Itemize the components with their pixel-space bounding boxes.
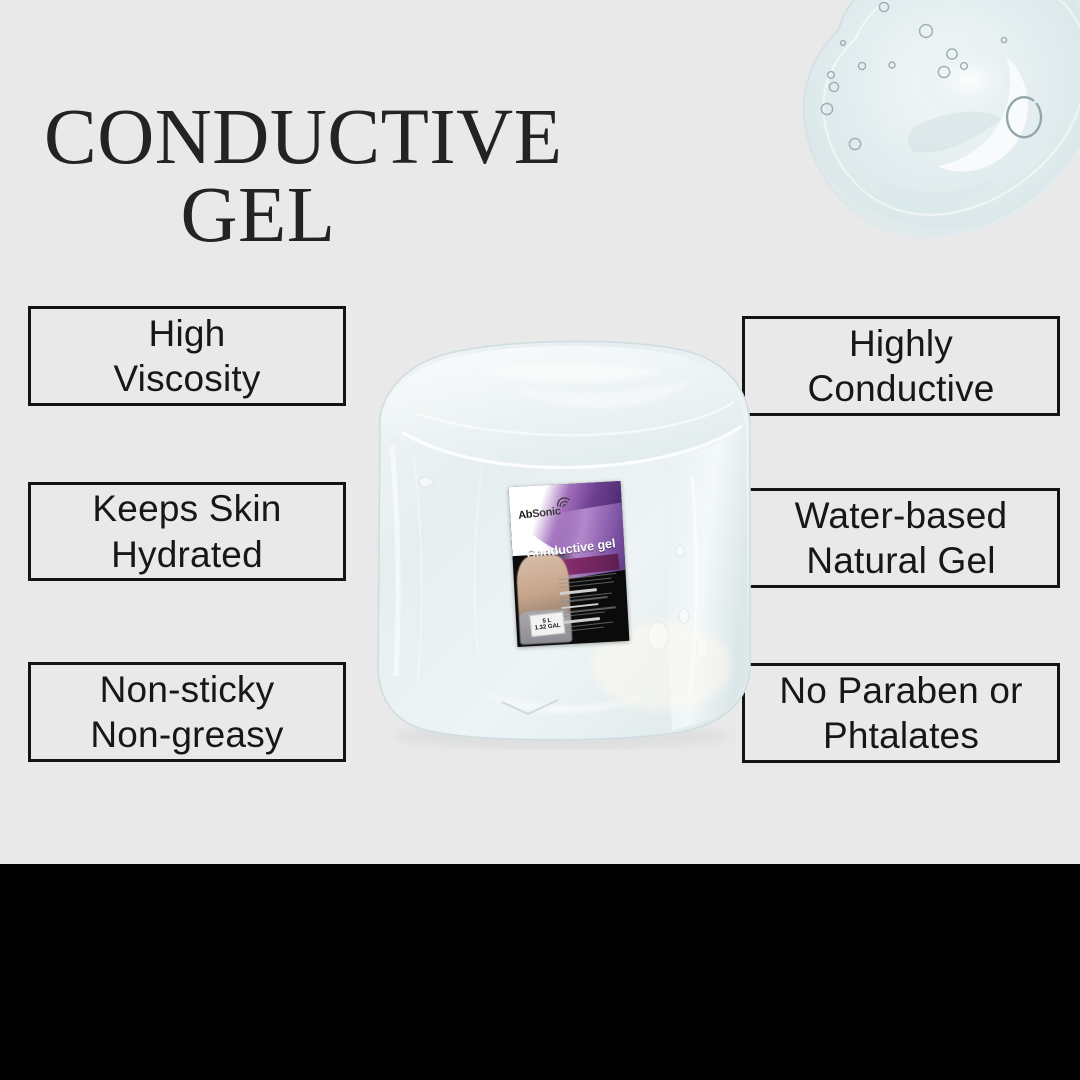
feature-line-2: Hydrated [92,532,281,577]
feature-line-1: Non-sticky [90,667,283,712]
label-text-block [558,573,624,637]
feature-line-1: High [113,311,260,356]
feature-line-1: Water-based [795,493,1008,538]
infographic-canvas: CONDUCTIVE GEL High Viscosity Keeps Skin… [0,0,1080,1080]
page-title: CONDUCTIVE GEL [44,99,664,255]
feature-box-highly-conductive: Highly Conductive [742,316,1060,416]
volume-imperial: 1.32 GAL [534,623,561,632]
feature-line-2: Natural Gel [795,538,1008,583]
footer-badge-bar: CRUELTY FREE [0,864,1080,1080]
title-line-2: GEL [44,177,664,255]
gel-swatch-blob [676,0,1080,266]
product-label: AbSonic Conductive gel [509,481,630,647]
feature-line-1: Highly [807,321,994,366]
feature-box-no-paraben-or-phtalates: No Paraben or Phtalates [742,663,1060,763]
feature-box-non-sticky-non-greasy: Non-sticky Non-greasy [28,662,346,762]
feature-line-2: Viscosity [113,356,260,401]
sonic-wave-icon [555,496,572,509]
feature-box-keeps-skin-hydrated: Keeps Skin Hydrated [28,482,346,581]
feature-line-2: Phtalates [779,713,1022,758]
feature-box-water-based-natural-gel: Water-based Natural Gel [742,488,1060,588]
feature-line-2: Conductive [807,366,994,411]
label-volume-badge: 5 L 1.32 GAL [529,612,565,638]
title-line-1: CONDUCTIVE [44,99,664,177]
feature-box-high-viscosity: High Viscosity [28,306,346,406]
feature-line-2: Non-greasy [90,712,283,757]
product-image-gel-cube: AbSonic Conductive gel [362,336,762,750]
feature-line-1: No Paraben or [779,668,1022,713]
brand-name-part-1: Ab [518,508,533,521]
feature-line-1: Keeps Skin [92,486,281,531]
